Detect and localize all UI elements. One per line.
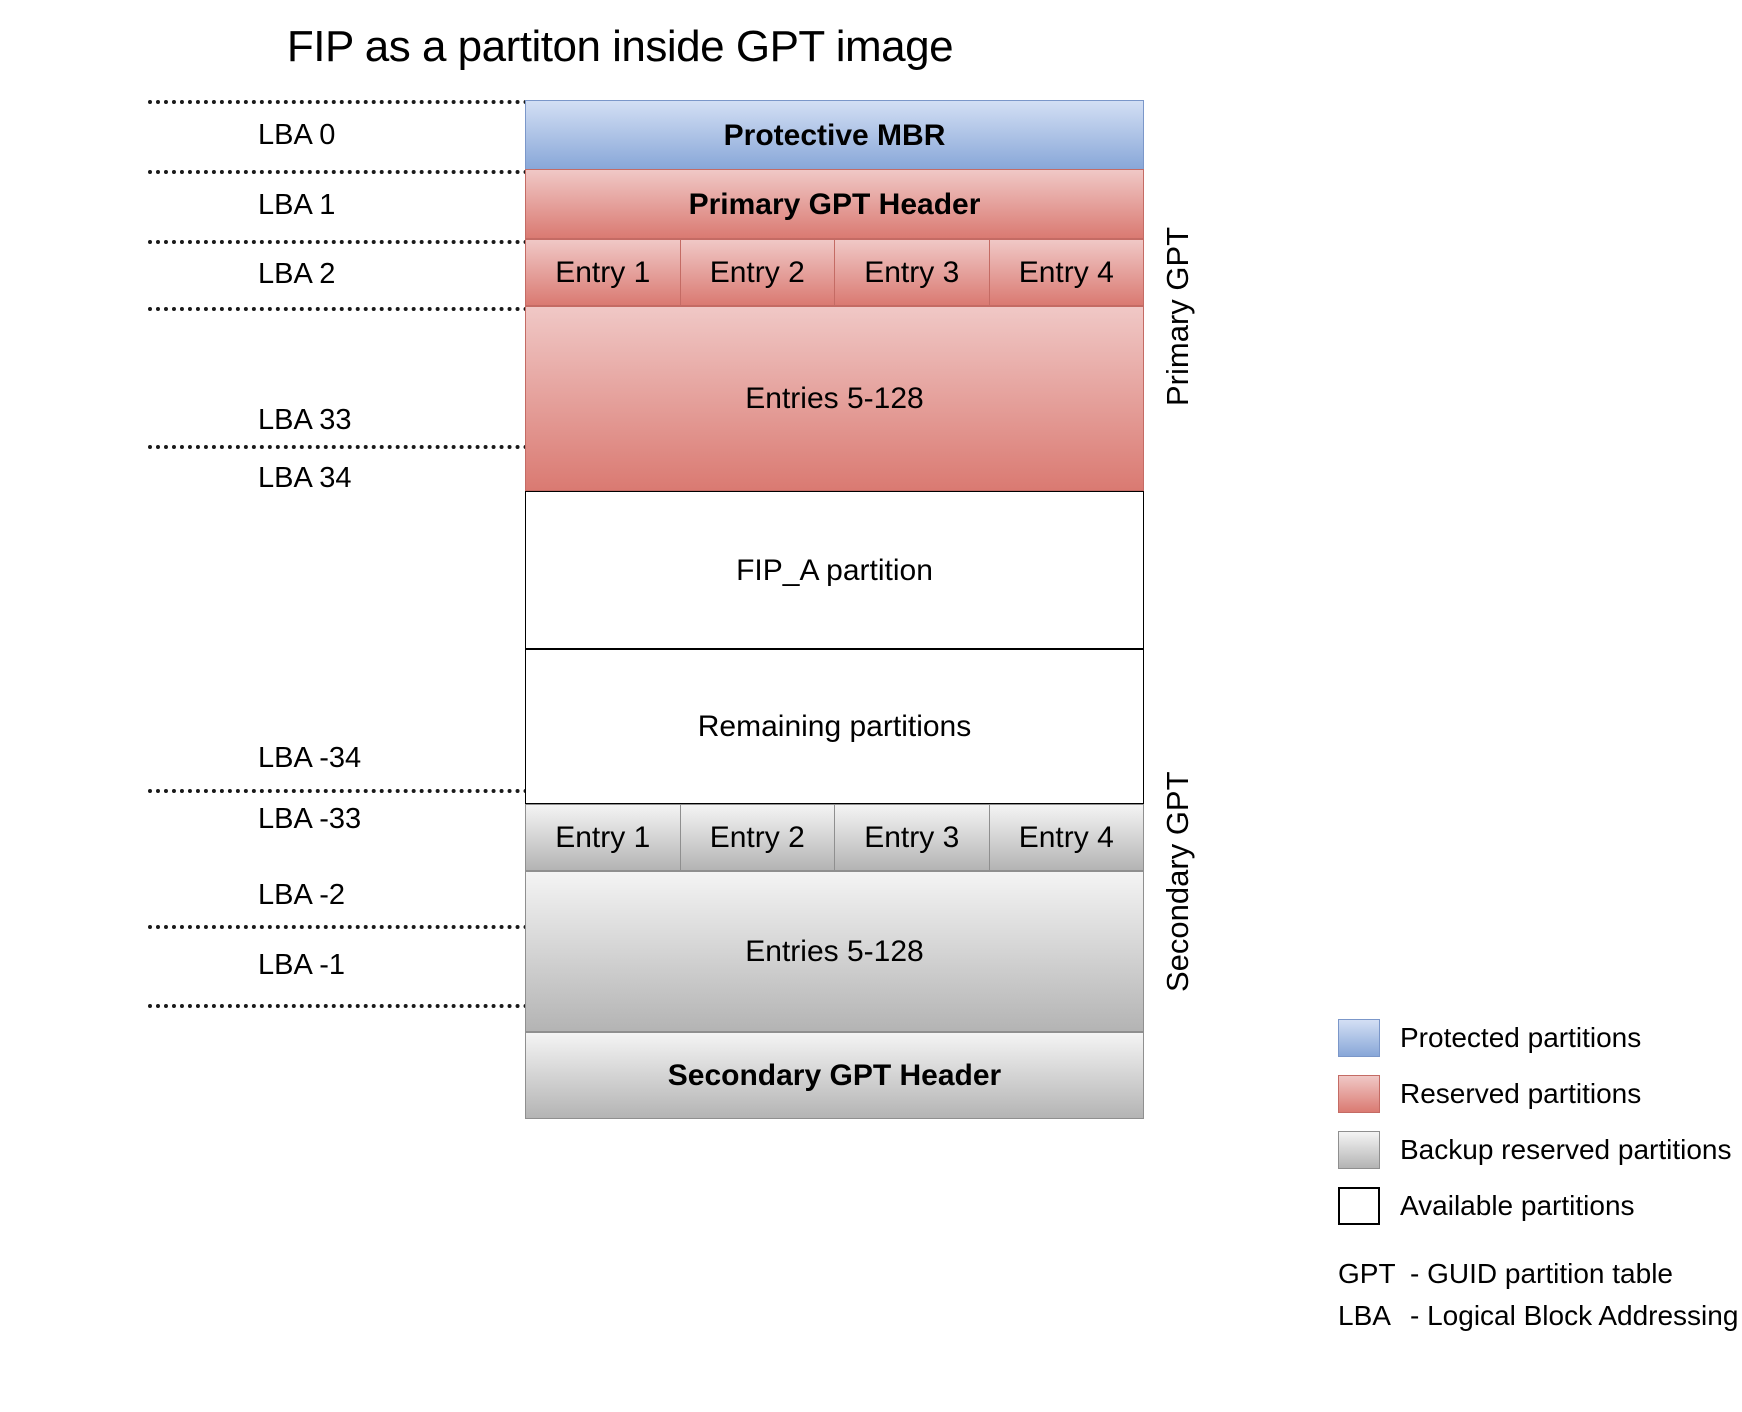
lba-label: LBA -33 — [258, 803, 361, 836]
gpt-band-label: Protective MBR — [724, 119, 946, 152]
dotted-guide-line — [148, 240, 528, 244]
legend-swatch-icon — [1338, 1131, 1380, 1169]
page-title: FIP as a partiton inside GPT image — [0, 22, 1240, 72]
legend-label: Protected partitions — [1400, 1022, 1641, 1054]
gpt-entry-cell: Entry 1 — [525, 804, 681, 871]
gpt-band: Protective MBR — [525, 100, 1144, 170]
legend-item: Protected partitions — [1338, 1010, 1738, 1066]
dotted-guide-line — [148, 307, 528, 311]
legend-swatch-icon — [1338, 1019, 1380, 1057]
lba-label: LBA 1 — [258, 189, 335, 222]
gpt-band-label: FIP_A partition — [736, 554, 933, 587]
lba-label: LBA -2 — [258, 879, 345, 912]
lba-label: LBA 33 — [258, 404, 352, 437]
abbreviation-row: GPT- GUID partition table — [1338, 1258, 1738, 1300]
gpt-entry-cell: Entry 3 — [834, 804, 990, 871]
dotted-guide-line — [148, 789, 528, 793]
gpt-band: Remaining partitions — [525, 649, 1144, 804]
legend: Protected partitionsReserved partitionsB… — [1338, 1010, 1738, 1234]
gpt-entry-cell: Entry 4 — [989, 804, 1145, 871]
dotted-guide-line — [148, 100, 528, 104]
gpt-band-label: Primary GPT Header — [689, 188, 981, 221]
gpt-entry-cell: Entry 3 — [834, 239, 990, 306]
gpt-band: Primary GPT Header — [525, 169, 1144, 239]
lba-label: LBA -1 — [258, 949, 345, 982]
legend-label: Backup reserved partitions — [1400, 1134, 1732, 1166]
abbreviation-key: GPT- GUID partition tableLBA- Logical Bl… — [1338, 1258, 1738, 1342]
lba-label: LBA 0 — [258, 119, 335, 152]
gpt-region-label: Secondary GPT — [1160, 742, 1196, 1022]
legend-item: Backup reserved partitions — [1338, 1122, 1738, 1178]
gpt-band-label: Remaining partitions — [698, 710, 971, 743]
dotted-guide-line — [148, 1004, 528, 1008]
gpt-band-label: Secondary GPT Header — [668, 1059, 1001, 1092]
lba-label: LBA 34 — [258, 462, 352, 495]
gpt-band: Entries 5-128 — [525, 871, 1144, 1032]
abbreviation-key: GPT — [1338, 1258, 1410, 1290]
lba-label: LBA -34 — [258, 742, 361, 775]
legend-item: Available partitions — [1338, 1178, 1738, 1234]
abbreviation-value: - Logical Block Addressing — [1410, 1300, 1738, 1332]
legend-swatch-icon — [1338, 1187, 1380, 1225]
gpt-band-label: Entries 5-128 — [745, 382, 923, 415]
gpt-entry-cell: Entry 1 — [525, 239, 681, 306]
legend-item: Reserved partitions — [1338, 1066, 1738, 1122]
dotted-guide-line — [148, 170, 528, 174]
gpt-entry-cell: Entry 2 — [680, 804, 836, 871]
legend-label: Reserved partitions — [1400, 1078, 1641, 1110]
lba-label: LBA 2 — [258, 258, 335, 291]
legend-swatch-icon — [1338, 1075, 1380, 1113]
gpt-band-label: Entries 5-128 — [745, 935, 923, 968]
dotted-guide-line — [148, 925, 528, 929]
legend-label: Available partitions — [1400, 1190, 1635, 1222]
abbreviation-value: - GUID partition table — [1410, 1258, 1673, 1290]
gpt-band: Entries 5-128 — [525, 306, 1144, 491]
gpt-entry-cell: Entry 4 — [989, 239, 1145, 306]
gpt-region-label: Primary GPT — [1160, 186, 1196, 446]
dotted-guide-line — [148, 445, 528, 449]
gpt-band: Secondary GPT Header — [525, 1032, 1144, 1119]
abbreviation-row: LBA- Logical Block Addressing — [1338, 1300, 1738, 1342]
primary-entries: Entry 1Entry 2Entry 3Entry 4 — [525, 239, 1144, 306]
abbreviation-key: LBA — [1338, 1300, 1410, 1332]
secondary-entries: Entry 1Entry 2Entry 3Entry 4 — [525, 804, 1144, 871]
gpt-band: FIP_A partition — [525, 491, 1144, 649]
gpt-entry-cell: Entry 2 — [680, 239, 836, 306]
